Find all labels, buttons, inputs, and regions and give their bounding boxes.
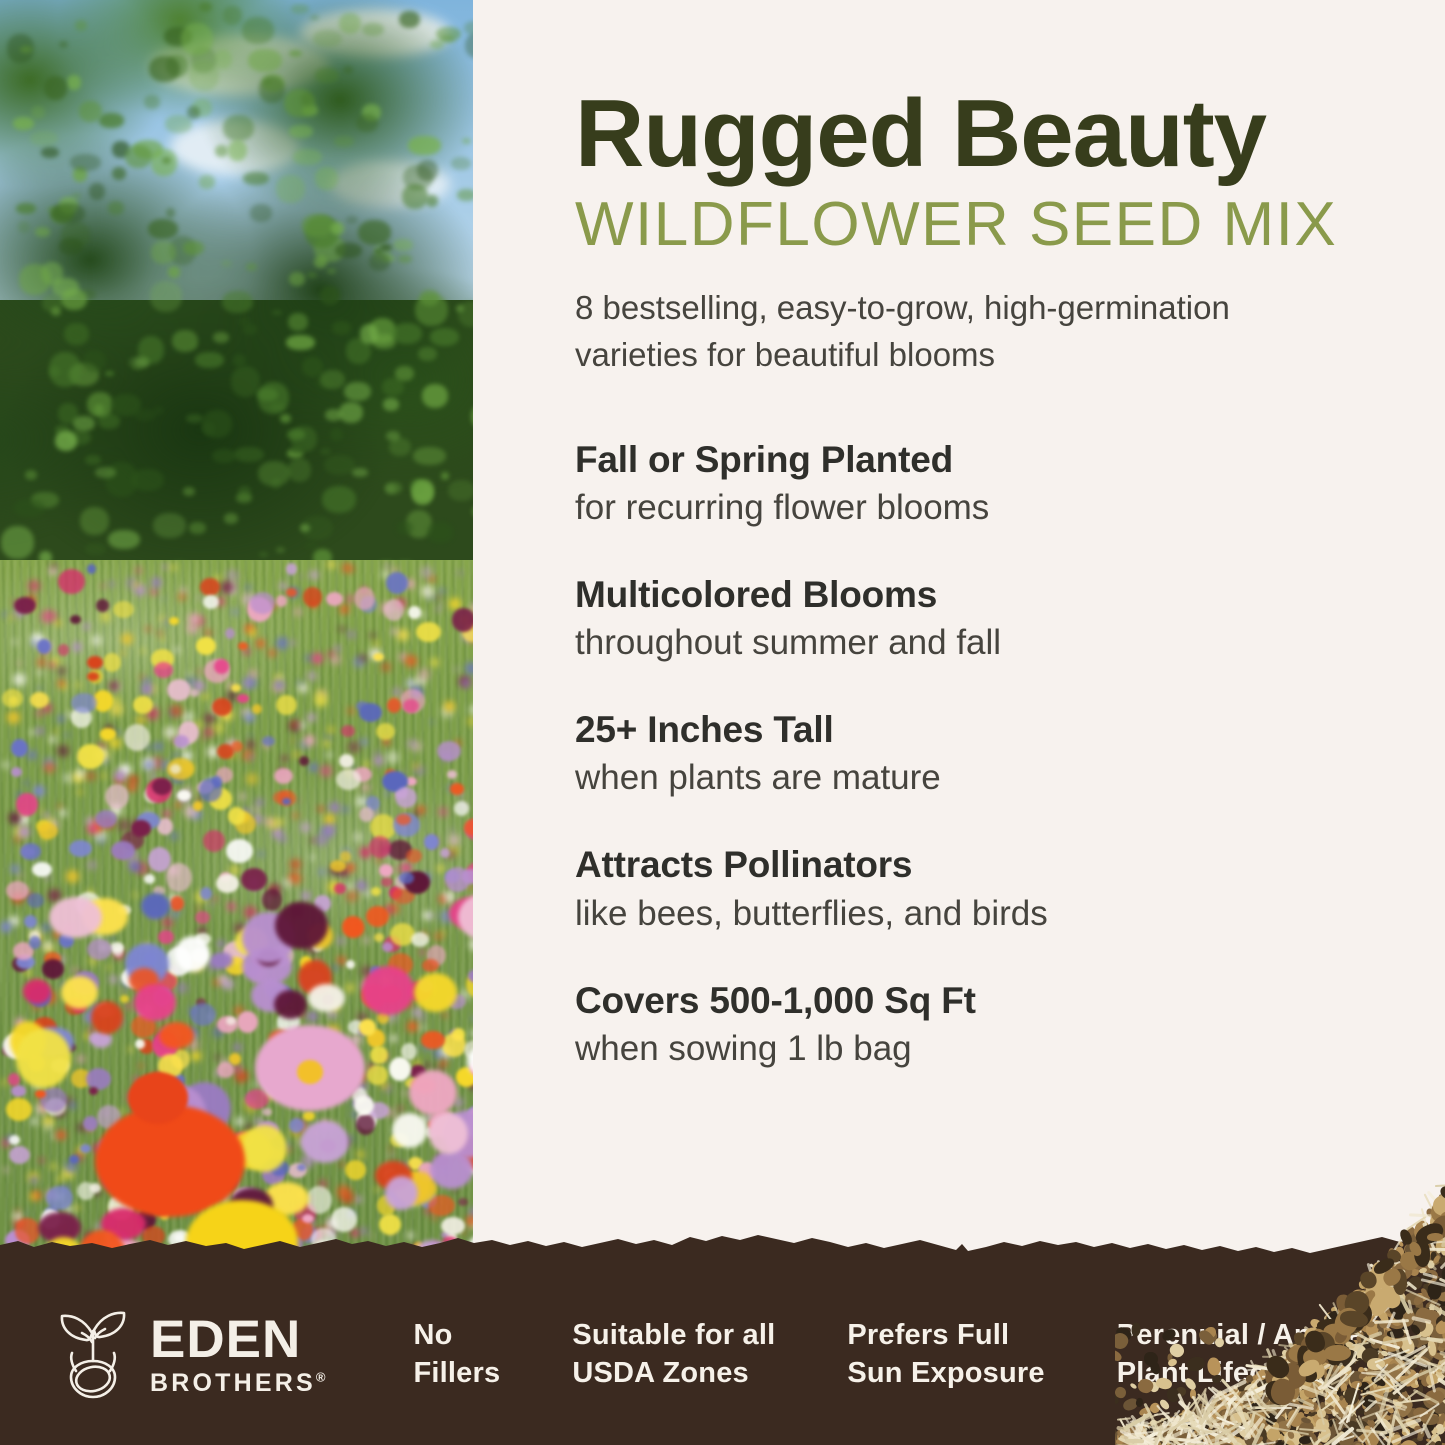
feature-item: Covers 500-1,000 Sq Ft when sowing 1 lb … bbox=[575, 978, 1365, 1071]
badge-line1: No bbox=[413, 1317, 500, 1355]
feature-title: Covers 500-1,000 Sq Ft bbox=[575, 978, 1365, 1023]
wildflower-meadow-photo bbox=[0, 0, 473, 1290]
feature-subtitle: like bees, butterflies, and birds bbox=[575, 892, 1365, 936]
page-subtitle: WILDFLOWER SEED MIX bbox=[575, 192, 1365, 257]
feature-subtitle: throughout summer and fall bbox=[575, 621, 1365, 665]
feature-title: Multicolored Blooms bbox=[575, 572, 1365, 617]
feature-list: Fall or Spring Planted for recurring flo… bbox=[575, 437, 1365, 1071]
badge-plant-lifecycle: Perennial / Annual Plant Lifecycle bbox=[1117, 1317, 1373, 1392]
badge-line2: USDA Zones bbox=[572, 1355, 775, 1393]
badge-line2: Fillers bbox=[413, 1355, 500, 1393]
feature-item: 25+ Inches Tall when plants are mature bbox=[575, 707, 1365, 800]
badge-line1: Suitable for all bbox=[572, 1317, 775, 1355]
footer-bar: EDEN BROTHERS® No Fillers Suitable for a… bbox=[0, 1265, 1445, 1445]
badge-line2: Sun Exposure bbox=[847, 1355, 1044, 1393]
footer-badges: No Fillers Suitable for all USDA Zones P… bbox=[413, 1317, 1372, 1392]
feature-item: Attracts Pollinators like bees, butterfl… bbox=[575, 842, 1365, 935]
feature-title: Attracts Pollinators bbox=[575, 842, 1365, 887]
brand-name: EDEN bbox=[150, 1313, 325, 1366]
badge-line1: Perennial / Annual bbox=[1117, 1317, 1373, 1355]
feature-item: Multicolored Blooms throughout summer an… bbox=[575, 572, 1365, 665]
brand-logo: EDEN BROTHERS® bbox=[48, 1305, 325, 1405]
feature-subtitle: for recurring flower blooms bbox=[575, 486, 1365, 530]
content-column: Rugged Beauty WILDFLOWER SEED MIX 8 best… bbox=[575, 0, 1365, 1113]
badge-line1: Prefers Full bbox=[847, 1317, 1044, 1355]
treeline bbox=[0, 0, 473, 600]
feature-subtitle: when plants are mature bbox=[575, 756, 1365, 800]
product-infographic: Rugged Beauty WILDFLOWER SEED MIX 8 best… bbox=[0, 0, 1445, 1445]
feature-item: Fall or Spring Planted for recurring flo… bbox=[575, 437, 1365, 530]
brand-subname: BROTHERS® bbox=[150, 1370, 325, 1398]
page-title: Rugged Beauty bbox=[575, 86, 1365, 182]
feature-title: Fall or Spring Planted bbox=[575, 437, 1365, 482]
sprout-seedling-icon bbox=[48, 1305, 136, 1405]
badge-line2: Plant Lifecycle bbox=[1117, 1355, 1373, 1393]
feature-title: 25+ Inches Tall bbox=[575, 707, 1365, 752]
badge-no-fillers: No Fillers bbox=[413, 1317, 500, 1392]
registered-mark: ® bbox=[316, 1369, 326, 1384]
flower-meadow bbox=[0, 560, 473, 1290]
tagline: 8 bestselling, easy-to-grow, high-germin… bbox=[575, 285, 1305, 379]
badge-sun-exposure: Prefers Full Sun Exposure bbox=[847, 1317, 1044, 1392]
badge-usda-zones: Suitable for all USDA Zones bbox=[572, 1317, 775, 1392]
feature-subtitle: when sowing 1 lb bag bbox=[575, 1027, 1365, 1071]
